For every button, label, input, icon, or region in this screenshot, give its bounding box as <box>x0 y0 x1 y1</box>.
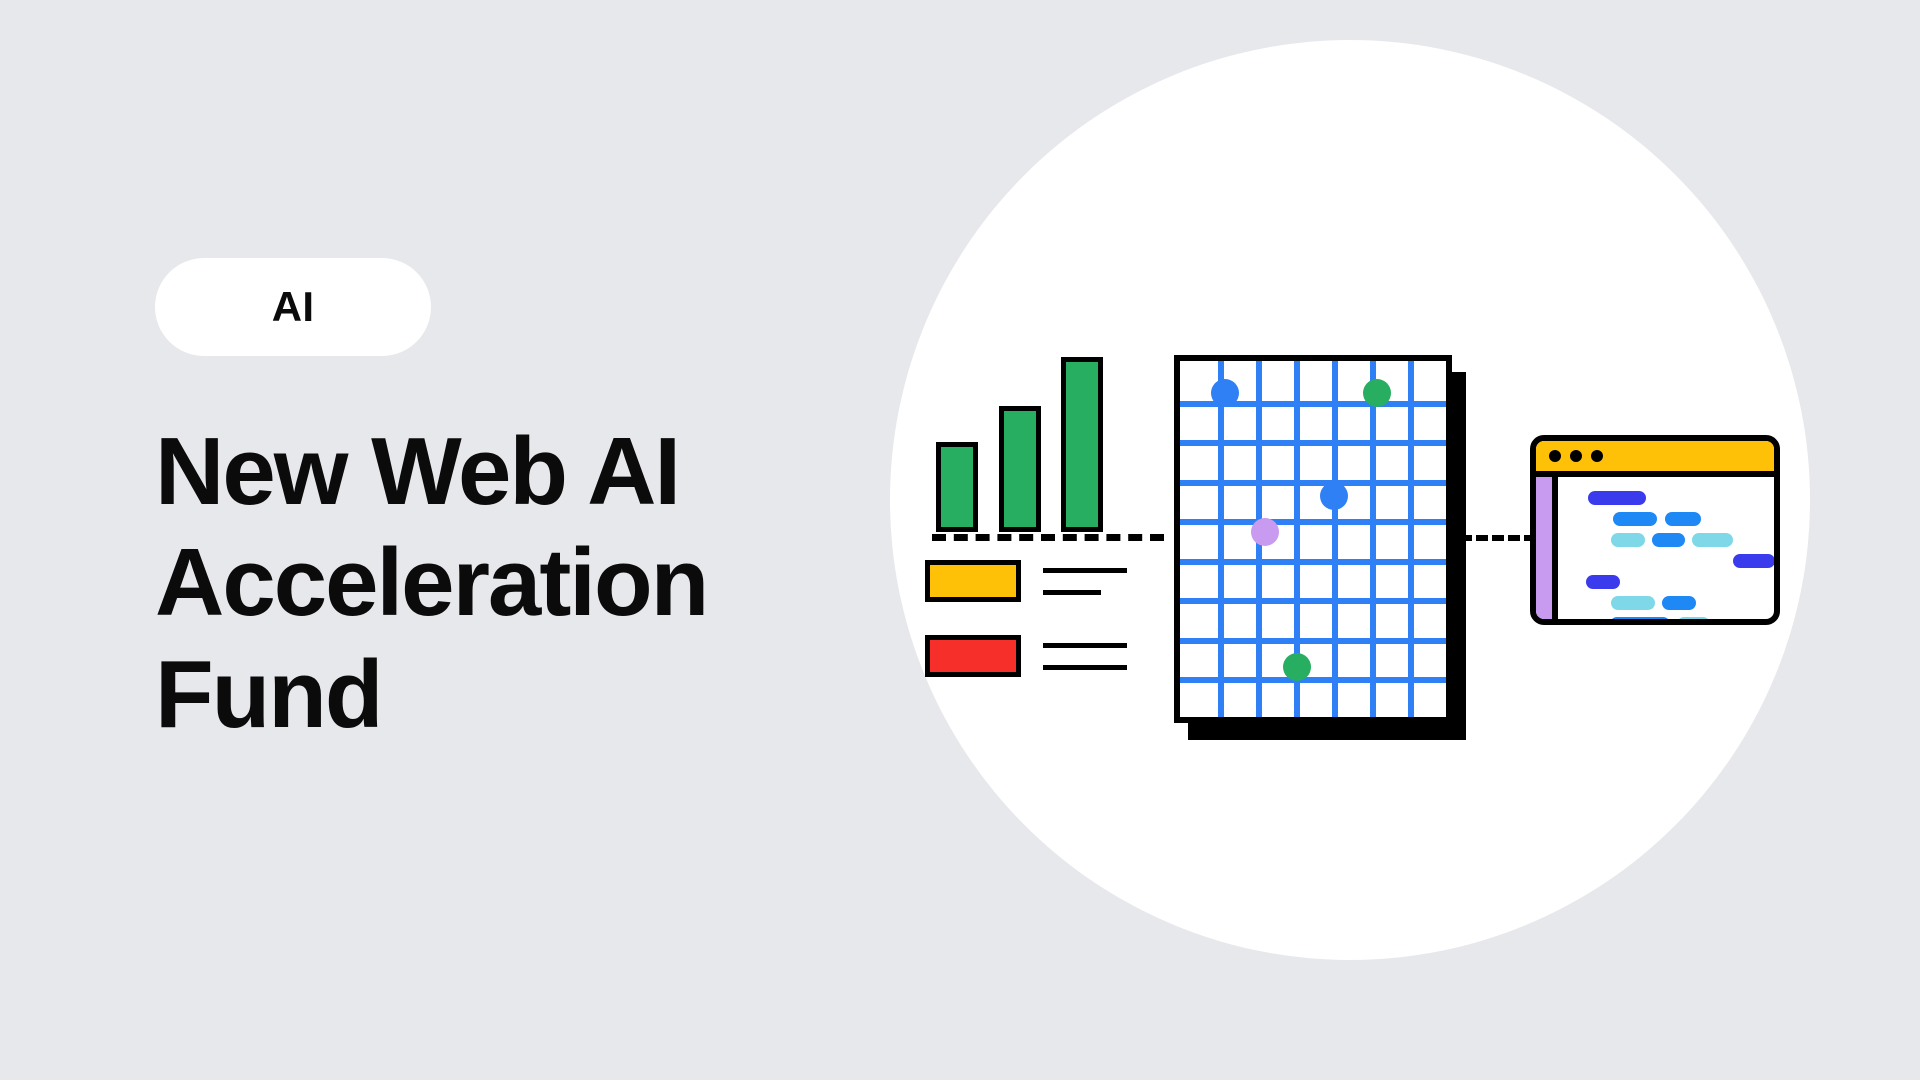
code-token <box>1588 491 1646 505</box>
window-dot-icon[interactable] <box>1549 450 1561 462</box>
legend-rule <box>1043 590 1101 595</box>
chart-bar <box>1061 357 1103 532</box>
grid-line-horizontal <box>1180 480 1446 486</box>
code-token <box>1586 575 1620 589</box>
code-token <box>1611 533 1645 547</box>
dashed-divider <box>932 534 1164 541</box>
dashed-connector <box>1460 535 1536 541</box>
chart-bar <box>999 406 1041 532</box>
point-green-2 <box>1283 653 1311 681</box>
page-title: New Web AI Acceleration Fund <box>155 416 795 750</box>
point-blue-1 <box>1211 379 1239 407</box>
grid-line-vertical <box>1332 361 1338 717</box>
point-green-1 <box>1363 379 1391 407</box>
grid-line-horizontal <box>1180 440 1446 446</box>
code-token <box>1610 617 1670 625</box>
chart-bar <box>936 442 978 532</box>
illustration-art <box>880 20 1820 1060</box>
point-purple-1 <box>1251 518 1279 546</box>
text-column: AI New Web AI Acceleration Fund <box>155 258 855 750</box>
grid-line-vertical <box>1370 361 1376 717</box>
code-editor-window[interactable] <box>1530 435 1780 625</box>
code-token <box>1662 596 1696 610</box>
grid-line-vertical <box>1218 361 1224 717</box>
code-token <box>1652 533 1685 547</box>
illustration-area <box>880 20 1820 1060</box>
legend-rule <box>1043 665 1127 670</box>
code-token <box>1733 554 1775 568</box>
category-badge-label: AI <box>272 286 314 328</box>
code-token <box>1677 617 1710 625</box>
window-dot-icon[interactable] <box>1570 450 1582 462</box>
data-grid-card <box>1174 355 1452 723</box>
hero-banner: AI New Web AI Acceleration Fund <box>0 0 1920 1080</box>
grid-line-horizontal <box>1180 559 1446 565</box>
grid-line-horizontal <box>1180 519 1446 525</box>
point-blue-2 <box>1320 482 1348 510</box>
category-badge[interactable]: AI <box>155 258 431 356</box>
window-dot-icon[interactable] <box>1591 450 1603 462</box>
code-token <box>1665 512 1701 526</box>
legend-rule <box>1043 643 1127 648</box>
code-window-sidebar <box>1536 477 1558 619</box>
legend-swatch-red <box>925 635 1021 677</box>
code-token <box>1692 533 1733 547</box>
code-window-titlebar <box>1536 441 1774 477</box>
grid-line-horizontal <box>1180 638 1446 644</box>
code-window-body <box>1558 477 1774 619</box>
code-token <box>1613 512 1657 526</box>
grid-line-vertical <box>1408 361 1414 717</box>
grid-line-horizontal <box>1180 677 1446 683</box>
code-token <box>1611 596 1655 610</box>
grid-line-horizontal <box>1180 598 1446 604</box>
legend-swatch-yellow <box>925 560 1021 602</box>
legend-rule <box>1043 568 1127 573</box>
